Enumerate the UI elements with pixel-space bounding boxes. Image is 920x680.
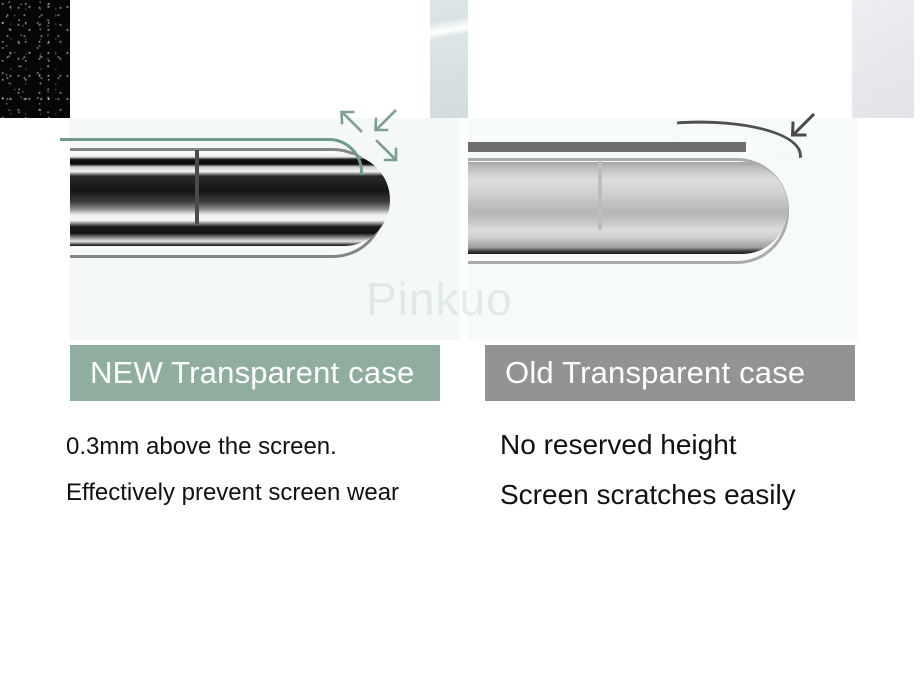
copy-old-line-2: Screen scratches easily [500, 470, 796, 520]
arrow-down-left-icon [788, 112, 816, 140]
phone-side-profile-old [468, 162, 788, 254]
arrow-up-left-icon [338, 108, 364, 134]
pale-gray-strip [852, 0, 914, 118]
speckled-black-texture [0, 0, 70, 118]
copy-new-line-1: 0.3mm above the screen. [66, 424, 399, 470]
raised-lip-curve-new [60, 138, 363, 175]
copy-new-line-2: Effectively prevent screen wear [66, 470, 399, 516]
banner-new-case: NEW Transparent case [70, 345, 440, 401]
arrow-down-right-icon [374, 138, 400, 164]
copy-old-case: No reserved height Screen scratches easi… [500, 420, 796, 520]
product-comparison-image: Pinkuo NEW Transparent case Old Transpar… [0, 0, 920, 680]
banner-old-case-label: Old Transparent case [505, 355, 805, 391]
banner-old-case: Old Transparent case [485, 345, 855, 401]
arrow-down-left-icon [372, 108, 398, 134]
phone-seam-line-old [598, 160, 602, 230]
glass-highlight-strip [430, 0, 468, 118]
copy-new-case: 0.3mm above the screen. Effectively prev… [66, 424, 399, 516]
copy-old-line-1: No reserved height [500, 420, 796, 470]
banner-new-case-label: NEW Transparent case [90, 355, 414, 391]
